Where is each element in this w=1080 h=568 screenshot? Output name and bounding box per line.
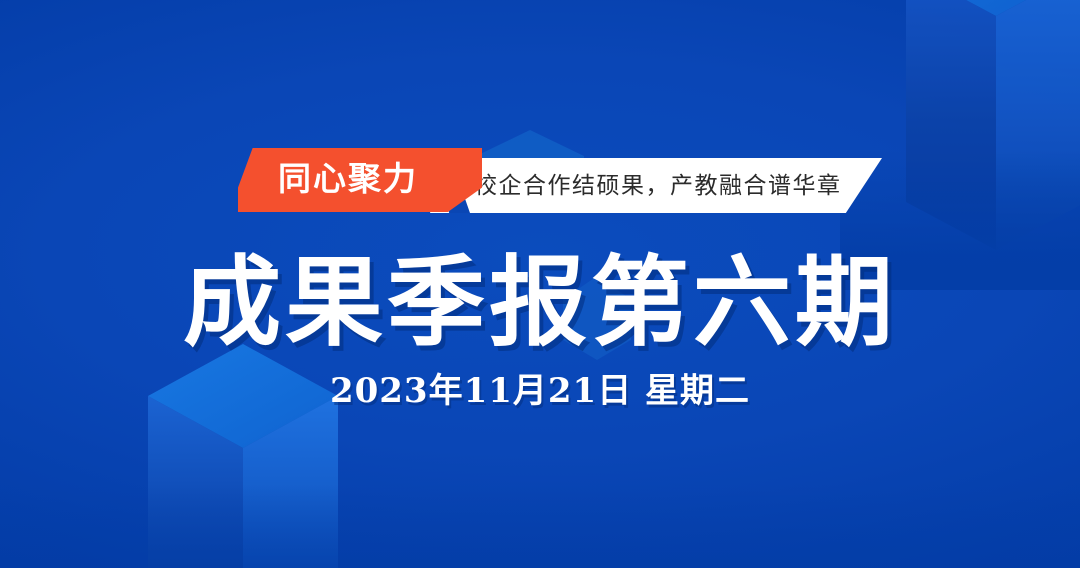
tag-label: 同心聚力 bbox=[238, 148, 458, 212]
page-title: 成果季报第六期 bbox=[0, 248, 1080, 358]
banner-row: 校企合作结硕果，产教融合谱华章 同心聚力 bbox=[0, 148, 1080, 218]
slogan-text: 校企合作结硕果，产教融合谱华章 bbox=[474, 158, 842, 213]
publish-date: 2023年11月21日 星期二 bbox=[0, 368, 1080, 414]
poster-canvas: 校企合作结硕果，产教融合谱华章 同心聚力 成果季报第六期 2023年11月21日… bbox=[0, 0, 1080, 568]
